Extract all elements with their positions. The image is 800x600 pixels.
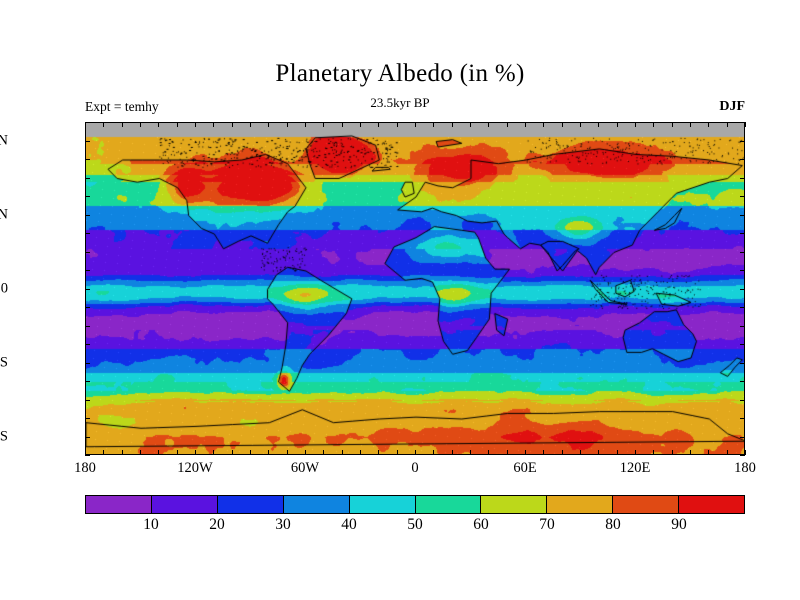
y-axis-tick [740, 307, 745, 308]
y-axis-tick [85, 400, 90, 401]
x-axis-tick [452, 450, 453, 455]
y-axis-tick [740, 289, 745, 290]
x-axis-tick [342, 450, 343, 455]
y-axis-tick [740, 252, 745, 253]
x-axis-tick [452, 122, 453, 127]
y-axis-label: 40N [0, 206, 8, 223]
colorbar-band [151, 496, 217, 513]
x-axis-tick [305, 450, 306, 455]
x-axis-tick [213, 122, 214, 127]
x-axis-tick [360, 122, 361, 127]
map-plot-area [85, 122, 745, 455]
y-axis-tick [85, 381, 90, 382]
y-axis-tick [740, 455, 745, 456]
x-axis-tick [397, 122, 398, 127]
y-axis-tick [85, 122, 90, 123]
x-axis-tick [433, 450, 434, 455]
x-axis-tick [232, 122, 233, 127]
x-axis-label: 180 [50, 460, 120, 477]
colorbar-tick-label: 90 [654, 516, 704, 534]
x-axis-tick [580, 450, 581, 455]
x-axis-tick [140, 122, 141, 127]
x-axis-tick [103, 122, 104, 127]
x-axis-tick [122, 122, 123, 127]
y-axis-tick [740, 418, 745, 419]
x-axis-tick [525, 450, 526, 455]
x-axis-tick [598, 122, 599, 127]
x-axis-tick [232, 450, 233, 455]
x-axis-tick [470, 122, 471, 127]
x-axis-tick [727, 122, 728, 127]
y-axis-tick [740, 381, 745, 382]
x-axis-tick [617, 450, 618, 455]
x-axis-label: 120W [160, 460, 230, 477]
x-axis-label: 60E [490, 460, 560, 477]
y-axis-tick [85, 215, 90, 216]
x-axis-tick [525, 122, 526, 127]
y-axis-tick [85, 437, 90, 438]
x-axis-tick [543, 450, 544, 455]
x-axis-tick [708, 122, 709, 127]
colorbar-band [612, 496, 678, 513]
page-title: Planetary Albedo (in %) [0, 60, 800, 88]
colorbar-band [86, 496, 151, 513]
colorbar-tick-label: 80 [588, 516, 638, 534]
x-axis-tick [103, 450, 104, 455]
y-axis-tick [740, 270, 745, 271]
x-axis-tick [195, 450, 196, 455]
x-axis-tick [195, 122, 196, 127]
y-axis-tick [85, 252, 90, 253]
y-axis-tick [85, 307, 90, 308]
colorbar-band [283, 496, 349, 513]
y-axis-tick [85, 344, 90, 345]
x-axis-tick [488, 122, 489, 127]
x-axis-tick [562, 450, 563, 455]
y-axis-tick [740, 344, 745, 345]
y-axis-tick [740, 437, 745, 438]
y-axis-tick [85, 455, 90, 456]
x-axis-tick [745, 122, 746, 127]
experiment-label: Expt = temhy [85, 99, 159, 115]
colorbar-tick-label: 30 [258, 516, 308, 534]
y-axis-tick [85, 233, 90, 234]
x-axis-tick [360, 450, 361, 455]
y-axis-tick [85, 159, 90, 160]
colorbar-tick-label: 50 [390, 516, 440, 534]
x-axis-tick [690, 122, 691, 127]
x-axis-label: 0 [380, 460, 450, 477]
y-axis-tick [85, 196, 90, 197]
x-axis-label: 120E [600, 460, 670, 477]
x-axis-label: 60W [270, 460, 340, 477]
x-axis-tick [488, 450, 489, 455]
x-axis-tick [378, 450, 379, 455]
y-axis-tick [740, 159, 745, 160]
x-axis-tick [323, 122, 324, 127]
y-axis-label: 40S [0, 354, 8, 371]
y-axis-tick [740, 196, 745, 197]
x-axis-tick [507, 122, 508, 127]
y-axis-tick [85, 270, 90, 271]
x-axis-tick [268, 450, 269, 455]
x-axis-tick [672, 122, 673, 127]
x-axis-tick [342, 122, 343, 127]
x-axis-tick [690, 450, 691, 455]
x-axis-tick [433, 122, 434, 127]
x-axis-tick [653, 122, 654, 127]
y-axis-tick [85, 363, 90, 364]
y-axis-tick [85, 418, 90, 419]
x-axis-tick [177, 450, 178, 455]
x-axis-tick [287, 450, 288, 455]
y-axis-tick [85, 141, 90, 142]
x-axis-tick [378, 122, 379, 127]
x-axis-tick [617, 122, 618, 127]
x-axis-tick [305, 122, 306, 127]
y-axis-tick [740, 178, 745, 179]
x-axis-tick [470, 450, 471, 455]
colorbar-tick-label: 10 [126, 516, 176, 534]
y-axis-tick [85, 289, 90, 290]
colorbar-band [349, 496, 415, 513]
x-axis-tick [745, 450, 746, 455]
x-axis-tick [507, 450, 508, 455]
y-axis-label: 80N [0, 132, 8, 149]
x-axis-tick [250, 122, 251, 127]
albedo-map-figure: Planetary Albedo (in %) 23.5kyr BP Expt … [0, 0, 800, 600]
x-axis-tick [708, 450, 709, 455]
y-axis-tick [85, 326, 90, 327]
x-axis-tick [397, 450, 398, 455]
x-axis-tick [415, 122, 416, 127]
y-axis-tick [740, 122, 745, 123]
colorbar-band [217, 496, 283, 513]
y-axis-label: 80S [0, 428, 8, 445]
colorbar-tick-label: 70 [522, 516, 572, 534]
x-axis-tick [177, 122, 178, 127]
x-axis-tick [727, 450, 728, 455]
colorbar-band [678, 496, 744, 513]
y-axis-tick [85, 178, 90, 179]
x-axis-tick [323, 450, 324, 455]
x-axis-tick [158, 122, 159, 127]
y-axis-tick [740, 233, 745, 234]
season-label: DJF [719, 99, 745, 115]
x-axis-tick [268, 122, 269, 127]
x-axis-tick [635, 450, 636, 455]
colorbar-band [415, 496, 481, 513]
x-axis-tick [598, 450, 599, 455]
x-axis-tick [672, 450, 673, 455]
y-axis-label: 0 [0, 280, 8, 297]
albedo-heatmap-canvas [86, 123, 745, 455]
y-axis-tick [740, 400, 745, 401]
colorbar-band [480, 496, 546, 513]
y-axis-tick [740, 141, 745, 142]
x-axis-label: 180 [710, 460, 780, 477]
x-axis-tick [415, 450, 416, 455]
x-axis-tick [653, 450, 654, 455]
colorbar-tick-label: 40 [324, 516, 374, 534]
x-axis-tick [140, 450, 141, 455]
x-axis-tick [287, 122, 288, 127]
colorbar-tick-label: 60 [456, 516, 506, 534]
x-axis-tick [158, 450, 159, 455]
colorbar-band [546, 496, 612, 513]
y-axis-tick [740, 326, 745, 327]
x-axis-tick [635, 122, 636, 127]
colorbar [85, 495, 745, 514]
x-axis-tick [562, 122, 563, 127]
y-axis-tick [740, 215, 745, 216]
colorbar-tick-label: 20 [192, 516, 242, 534]
x-axis-tick [543, 122, 544, 127]
x-axis-tick [122, 450, 123, 455]
y-axis-tick [740, 363, 745, 364]
x-axis-tick [250, 450, 251, 455]
x-axis-tick [213, 450, 214, 455]
x-axis-tick [580, 122, 581, 127]
